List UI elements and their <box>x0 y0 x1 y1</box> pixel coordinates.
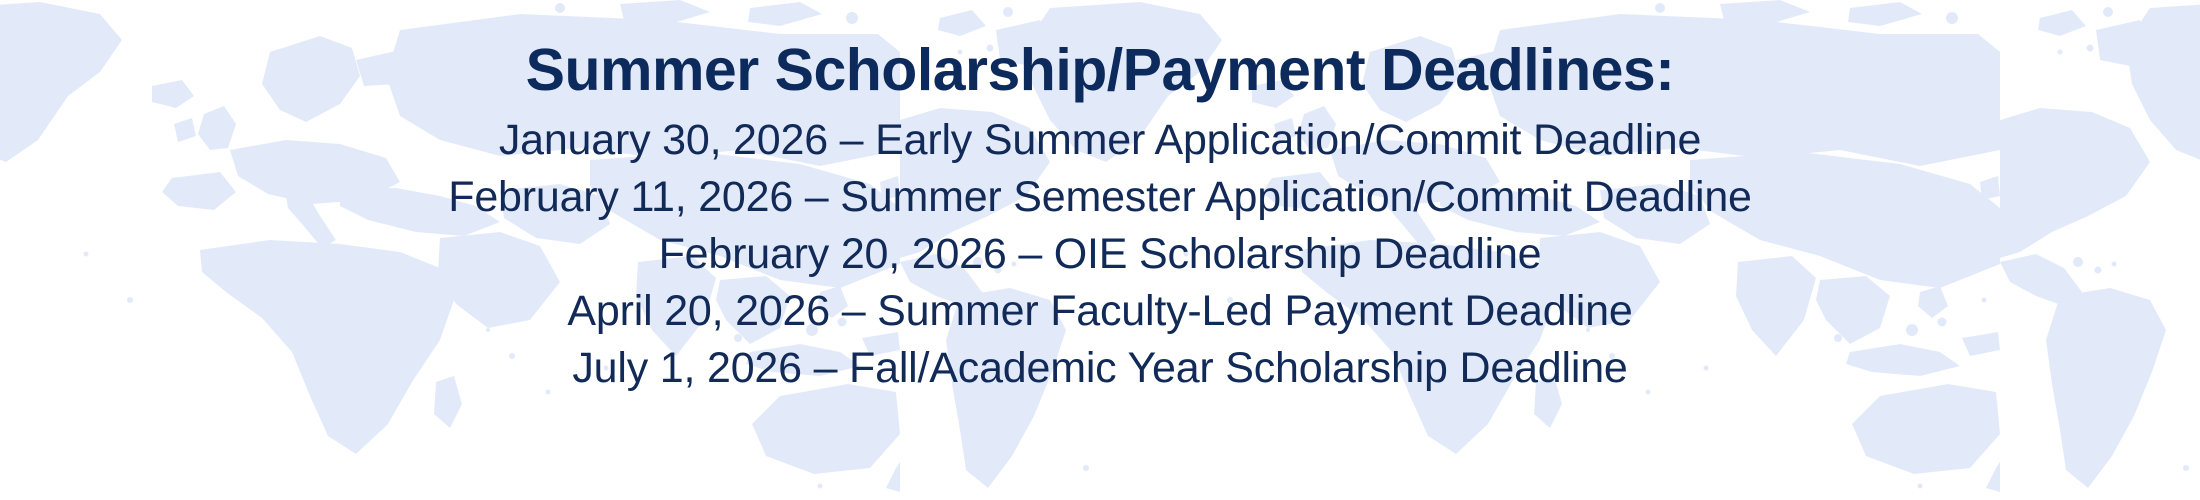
list-item: July 1, 2026 – Fall/Academic Year Schola… <box>448 340 1752 397</box>
deadline-list: January 30, 2026 – Early Summer Applicat… <box>448 112 1752 398</box>
deadlines-banner: Summer Scholarship/Payment Deadlines: Ja… <box>0 0 2200 500</box>
banner-content: Summer Scholarship/Payment Deadlines: Ja… <box>0 0 2200 500</box>
list-item: February 20, 2026 – OIE Scholarship Dead… <box>448 226 1752 283</box>
page-title: Summer Scholarship/Payment Deadlines: <box>526 36 1675 106</box>
list-item: April 20, 2026 – Summer Faculty-Led Paym… <box>448 283 1752 340</box>
list-item: January 30, 2026 – Early Summer Applicat… <box>448 112 1752 169</box>
list-item: February 11, 2026 – Summer Semester Appl… <box>448 169 1752 226</box>
